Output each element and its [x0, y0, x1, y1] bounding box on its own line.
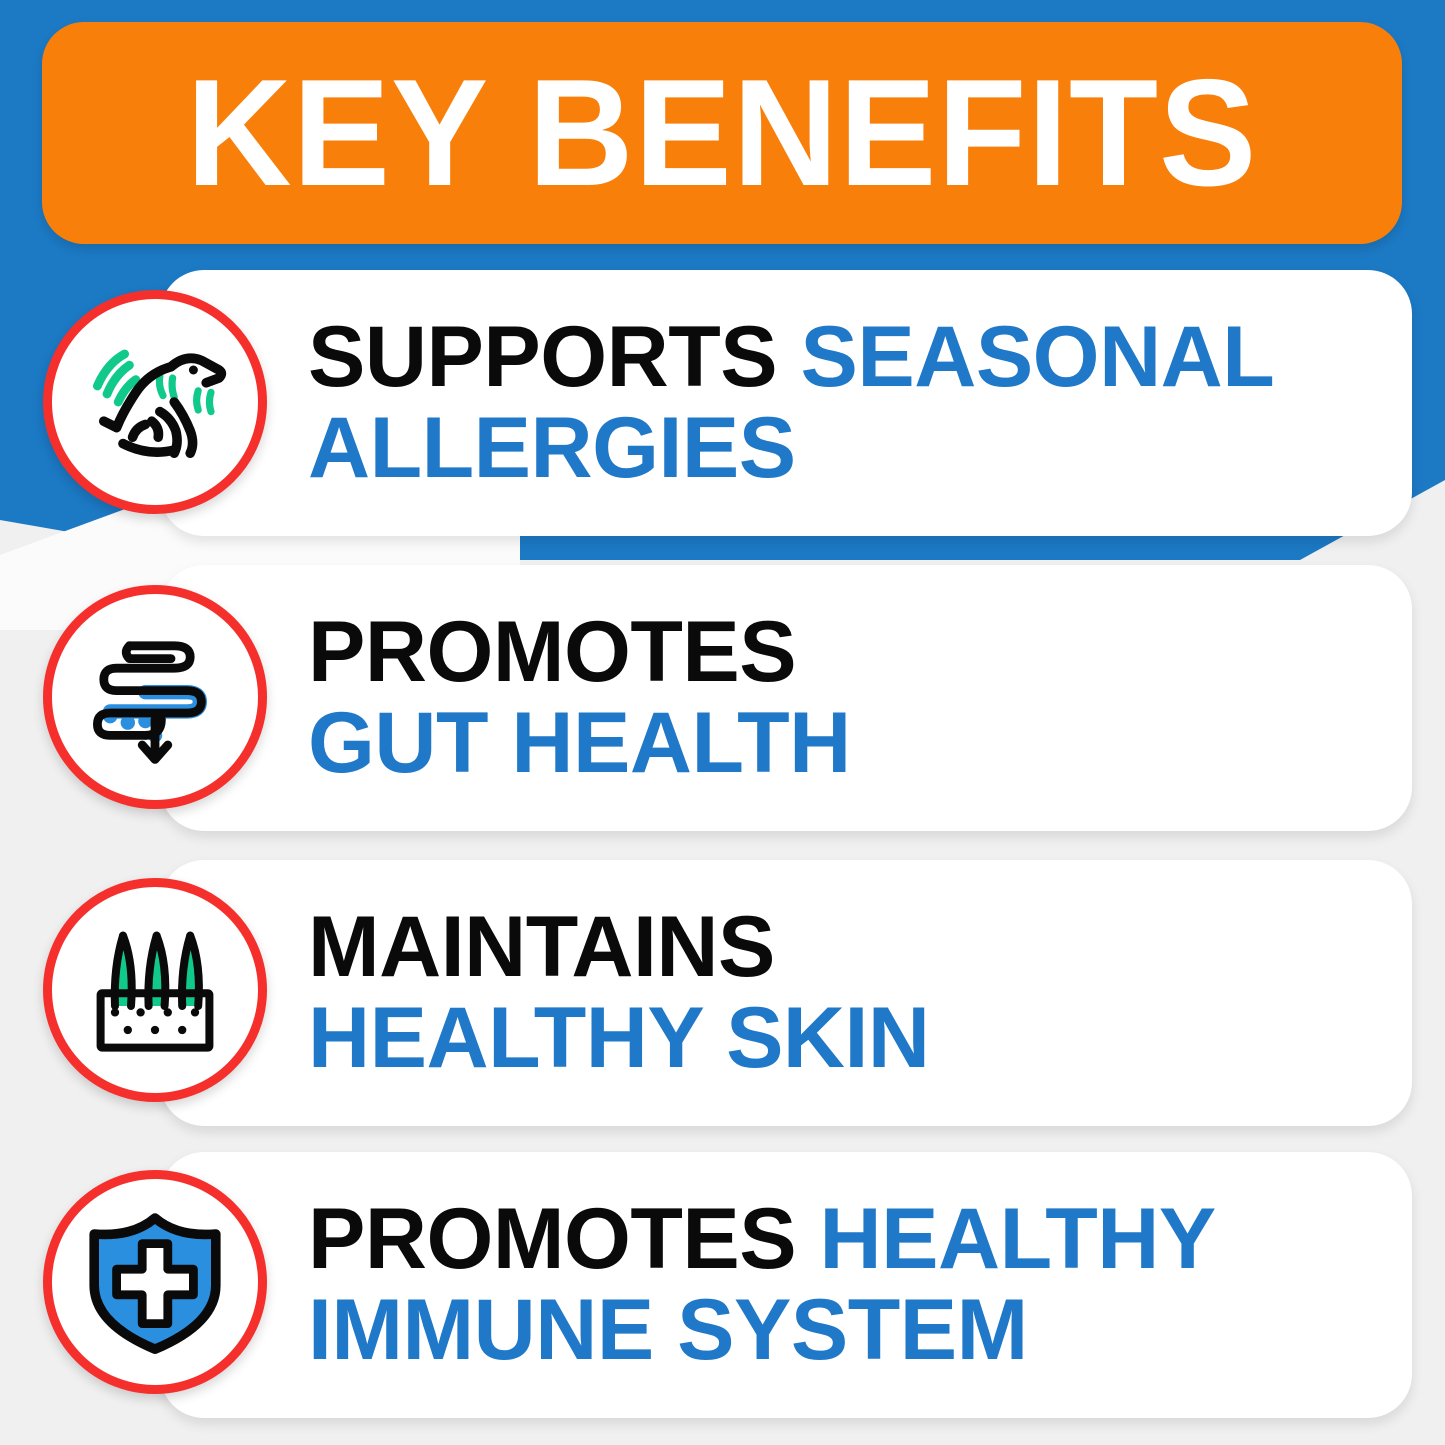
benefit-1-black-text: SUPPORTS [308, 309, 800, 405]
dog-scratching-icon [43, 290, 267, 514]
hair-follicle-skin-icon [43, 878, 267, 1102]
benefit-card-3: MAINTAINS HEALTHY SKIN [160, 860, 1412, 1126]
benefit-2-black-text: PROMOTES [308, 604, 796, 700]
benefit-text-2: PROMOTES GUT HEALTH [308, 607, 1388, 789]
shield-cross-immune-icon [43, 1170, 267, 1394]
benefit-2-blue-text: GUT HEALTH [308, 695, 851, 791]
benefit-text-1: SUPPORTS SEASONAL ALLERGIES [308, 312, 1388, 494]
benefit-card-1: SUPPORTS SEASONAL ALLERGIES [160, 270, 1412, 536]
benefit-card-4: PROMOTES HEALTHY IMMUNE SYSTEM [160, 1152, 1412, 1418]
benefit-text-4: PROMOTES HEALTHY IMMUNE SYSTEM [308, 1194, 1388, 1376]
benefit-4-black-text: PROMOTES [308, 1191, 820, 1287]
intestine-gut-icon [43, 585, 267, 809]
benefit-3-blue-text: HEALTHY SKIN [308, 990, 930, 1086]
benefit-card-2: PROMOTES GUT HEALTH [160, 565, 1412, 831]
benefit-1-blue-text-a: SEASONAL [800, 309, 1274, 405]
benefit-1-blue-text-b: ALLERGIES [308, 400, 796, 496]
benefit-text-3: MAINTAINS HEALTHY SKIN [308, 902, 1388, 1084]
benefit-4-blue-text-a: HEALTHY [820, 1191, 1216, 1287]
benefit-3-black-text: MAINTAINS [308, 899, 775, 995]
benefits-infographic: KEY BENEFITS SUPPORTS SEASONAL ALLERGIES [0, 0, 1445, 1445]
header-banner: KEY BENEFITS [42, 22, 1402, 244]
benefit-4-blue-text-b: IMMUNE SYSTEM [308, 1282, 1028, 1378]
page-title: KEY BENEFITS [186, 57, 1257, 209]
